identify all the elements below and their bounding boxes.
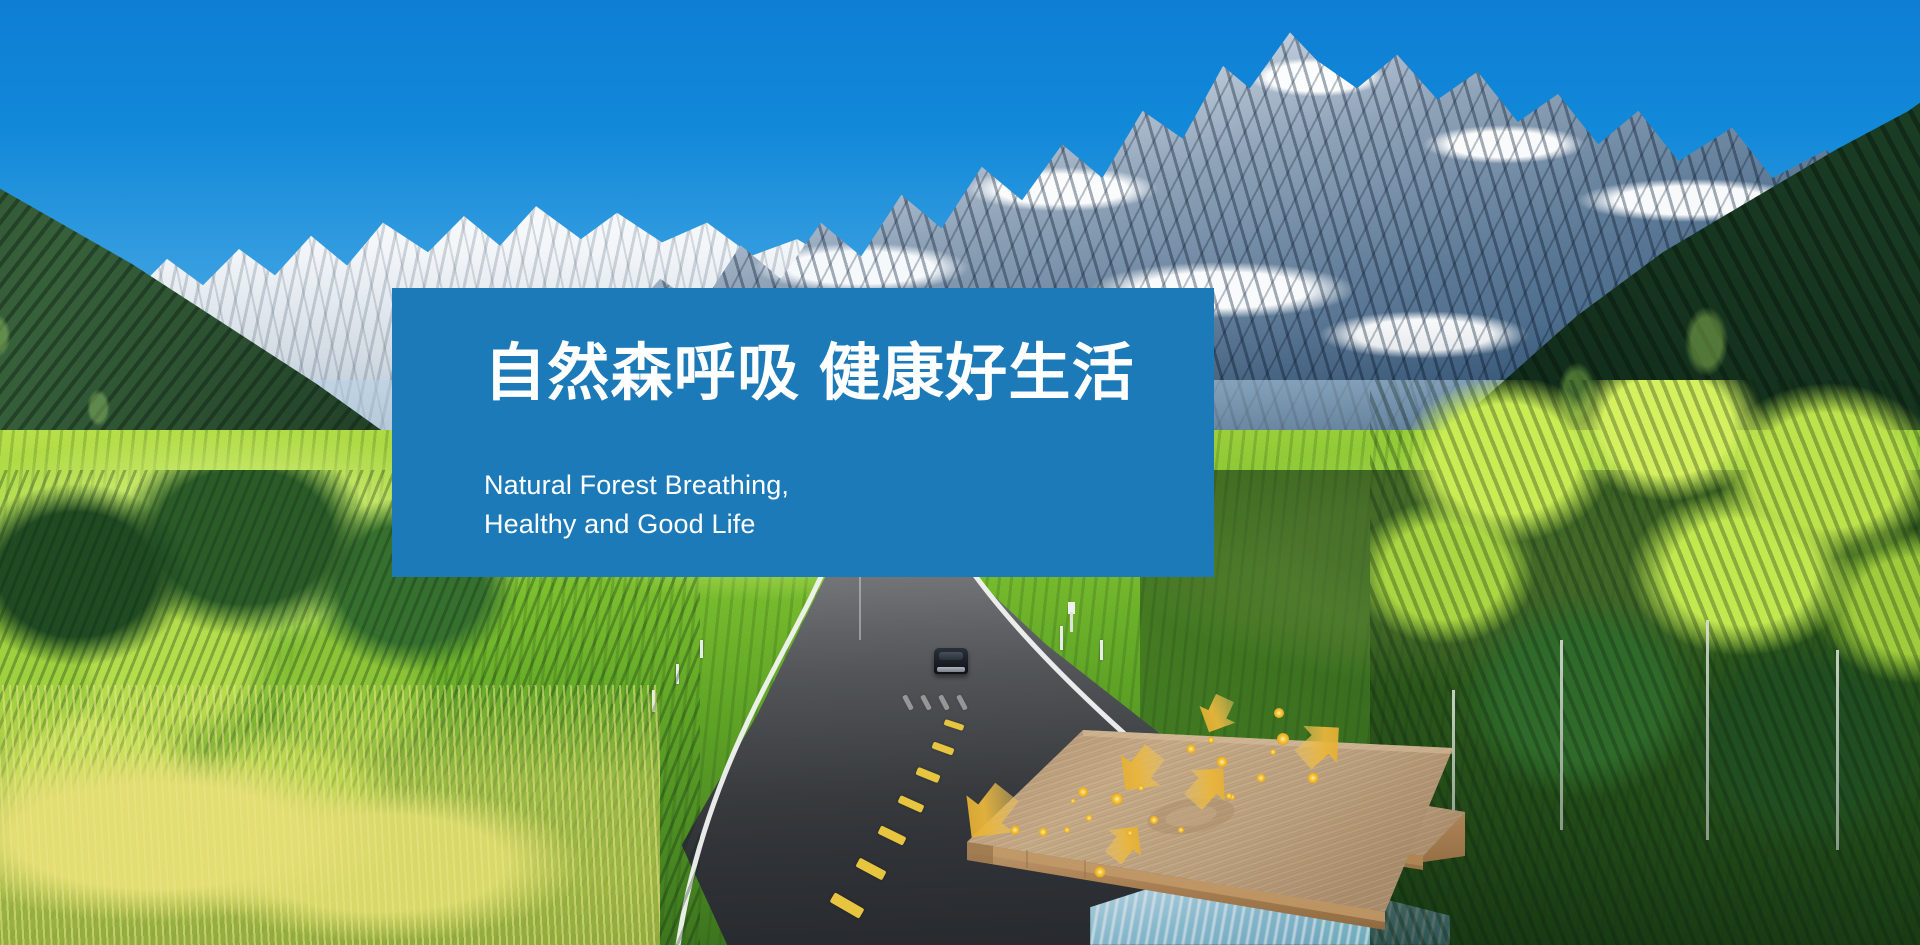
- car: [934, 648, 968, 674]
- wood-planks-product: [955, 680, 1465, 945]
- tree-trunk: [1836, 650, 1839, 850]
- roadside-post: [1100, 640, 1103, 660]
- dry-grass-foreground: [0, 685, 660, 945]
- hero-banner: 自然森呼吸 健康好生活 Natural Forest Breathing, He…: [0, 0, 1920, 945]
- roadside-post: [1060, 626, 1063, 650]
- tree-trunk: [1706, 620, 1709, 840]
- roadside-post: [700, 640, 703, 658]
- tree-trunk: [1560, 640, 1563, 830]
- headline-panel: 自然森呼吸 健康好生活 Natural Forest Breathing, He…: [392, 288, 1214, 577]
- page-title: 自然森呼吸 健康好生活: [484, 340, 1214, 408]
- page-subtitle: Natural Forest Breathing, Healthy and Go…: [484, 466, 1214, 543]
